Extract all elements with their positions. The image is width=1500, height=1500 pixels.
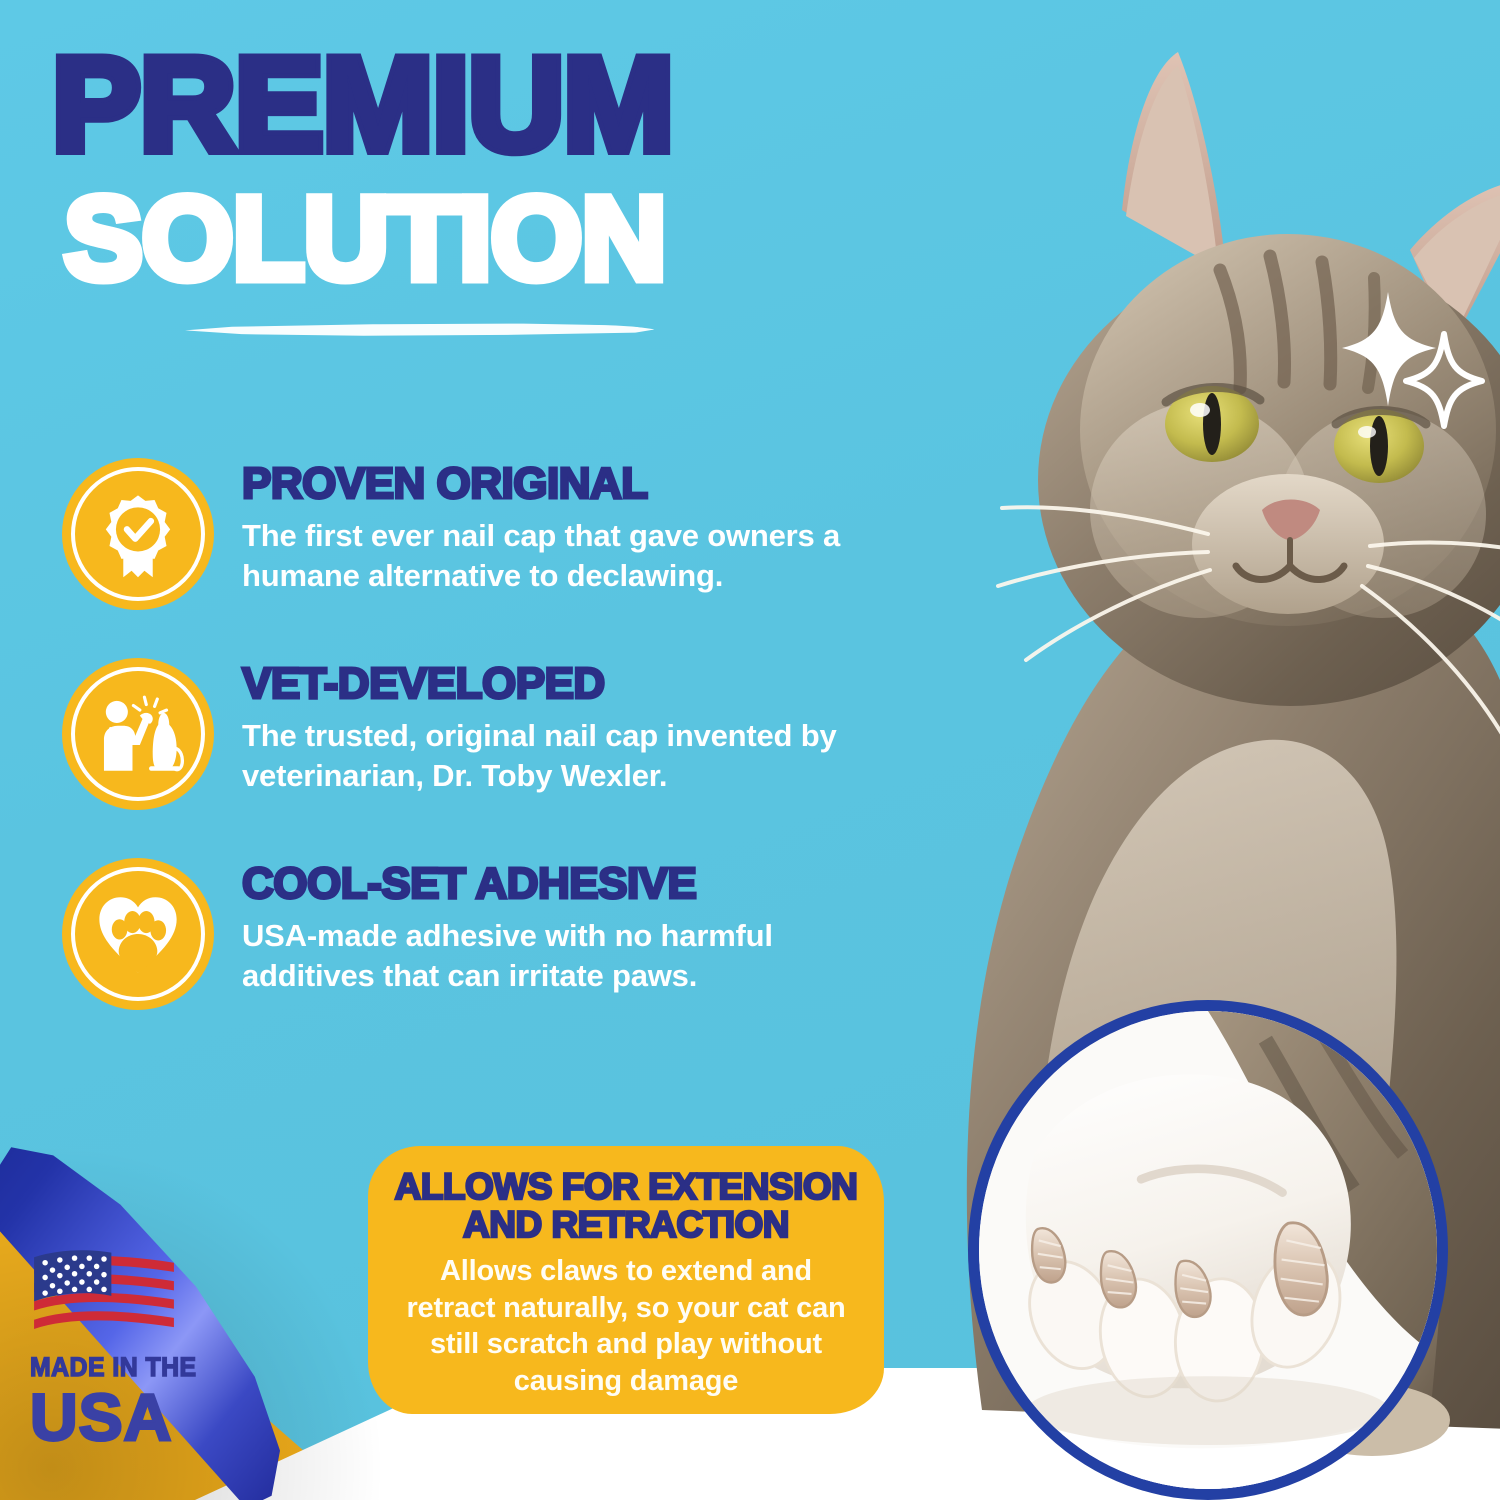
feature-list: PROVEN ORIGINAL The first ever nail cap … (62, 458, 872, 1058)
product-infographic-poster: PREMIUM SOLUTION PROVEN ORIGINAL The fir… (0, 0, 1500, 1500)
headline-line-solution: SOLUTION (64, 180, 882, 298)
callout-body: Allows claws to extend and retract natur… (394, 1253, 858, 1399)
headline-block: PREMIUM SOLUTION (52, 42, 882, 298)
usa-badge-line1: MADE IN THE (30, 1354, 242, 1381)
us-flag-icon (30, 1248, 178, 1340)
callout-title-line2: AND RETRACTION (394, 1206, 858, 1244)
feature-body: The trusted, original nail cap invented … (242, 716, 862, 795)
feature-item-cool-set-adhesive: COOL-SET ADHESIVE USA-made adhesive with… (62, 858, 872, 1010)
feature-title: COOL-SET ADHESIVE (242, 862, 872, 907)
headline-line-premium: PREMIUM (52, 42, 882, 170)
callout-title-line1: ALLOWS FOR EXTENSION (394, 1168, 858, 1206)
feature-title: VET-DEVELOPED (242, 662, 872, 707)
made-in-usa-badge: MADE IN THE USA (30, 1248, 260, 1452)
feature-title: PROVEN ORIGINAL (242, 462, 872, 507)
vet-high-five-cat-icon (62, 658, 214, 810)
usa-badge-line2: USA (30, 1383, 260, 1452)
feature-item-vet-developed: VET-DEVELOPED The trusted, original nail… (62, 658, 872, 810)
extension-retraction-callout: ALLOWS FOR EXTENSION AND RETRACTION Allo… (368, 1146, 884, 1414)
feature-item-proven-original: PROVEN ORIGINAL The first ever nail cap … (62, 458, 872, 610)
award-ribbon-check-icon (62, 458, 214, 610)
heart-paw-icon (62, 858, 214, 1010)
feature-body: USA-made adhesive with no harmful additi… (242, 916, 862, 995)
callout-title: ALLOWS FOR EXTENSION AND RETRACTION (394, 1168, 858, 1244)
feature-body: The first ever nail cap that gave owners… (242, 516, 862, 595)
cat-paw-with-nail-caps-photo (968, 1000, 1448, 1500)
